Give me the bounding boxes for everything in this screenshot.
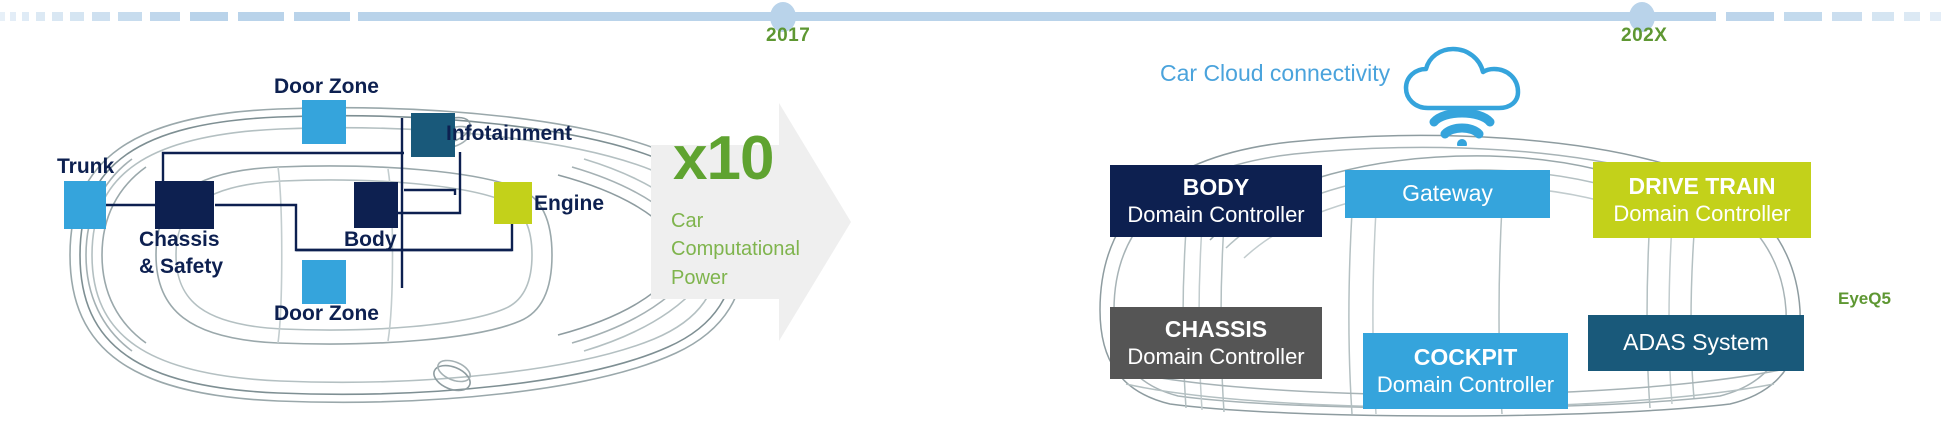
left-node-door-zone-top[interactable] xyxy=(302,100,346,144)
domain-box-adas[interactable]: ADAS System xyxy=(1588,315,1804,371)
arrow-multiplier-label: x10 xyxy=(673,123,773,194)
left-label-trunk: Trunk xyxy=(57,155,114,179)
slide-canvas: 2017 202X xyxy=(0,0,1949,441)
arrow-caption-line3: Power xyxy=(671,264,800,292)
domain-box-drivetrain-title: DRIVE TRAIN xyxy=(1629,173,1776,200)
arrow-caption-line1: Car xyxy=(671,207,800,235)
left-label-infotainment: Infotainment xyxy=(446,122,572,146)
left-label-chassis-line2: & Safety xyxy=(139,255,223,279)
domain-box-body[interactable]: BODY Domain Controller xyxy=(1110,165,1322,237)
domain-box-gateway-title: Gateway xyxy=(1402,180,1493,207)
wifi-icon xyxy=(1434,113,1490,146)
left-label-engine: Engine xyxy=(534,192,604,216)
left-node-engine[interactable] xyxy=(494,182,532,224)
eyeq5-label: EyeQ5 xyxy=(1838,289,1891,309)
domain-box-cockpit-title: COCKPIT xyxy=(1414,344,1518,371)
domain-box-gateway[interactable]: Gateway xyxy=(1345,170,1550,218)
left-node-door-zone-bottom[interactable] xyxy=(302,260,346,304)
left-label-body: Body xyxy=(344,228,397,252)
arrow-caption: Car Computational Power xyxy=(671,207,800,292)
domain-box-body-subtitle: Domain Controller xyxy=(1127,202,1304,228)
domain-box-adas-title: ADAS System xyxy=(1623,329,1769,356)
domain-box-cockpit[interactable]: COCKPIT Domain Controller xyxy=(1363,333,1568,409)
left-label-door-zone-bottom: Door Zone xyxy=(274,302,379,326)
domain-box-chassis[interactable]: CHASSIS Domain Controller xyxy=(1110,307,1322,379)
domain-box-body-title: BODY xyxy=(1183,174,1249,201)
domain-box-drivetrain[interactable]: DRIVE TRAIN Domain Controller xyxy=(1593,162,1811,238)
left-label-chassis-line1: Chassis xyxy=(139,228,220,252)
left-label-door-zone-top: Door Zone xyxy=(274,75,379,99)
domain-box-chassis-subtitle: Domain Controller xyxy=(1127,344,1304,370)
domain-box-chassis-title: CHASSIS xyxy=(1165,316,1267,343)
timeline-label-2017: 2017 xyxy=(766,25,810,47)
left-node-chassis[interactable] xyxy=(155,181,214,229)
cloud-connectivity-label: Car Cloud connectivity xyxy=(1160,60,1390,87)
arrow-caption-line2: Computational xyxy=(671,235,800,263)
domain-box-cockpit-subtitle: Domain Controller xyxy=(1377,372,1554,398)
timeline-label-202x: 202X xyxy=(1621,25,1667,47)
cloud-icon xyxy=(1398,46,1538,146)
left-node-body[interactable] xyxy=(354,182,398,228)
growth-arrow: x10 Car Computational Power xyxy=(651,105,841,340)
domain-box-drivetrain-subtitle: Domain Controller xyxy=(1613,201,1790,227)
left-node-trunk[interactable] xyxy=(64,181,106,229)
